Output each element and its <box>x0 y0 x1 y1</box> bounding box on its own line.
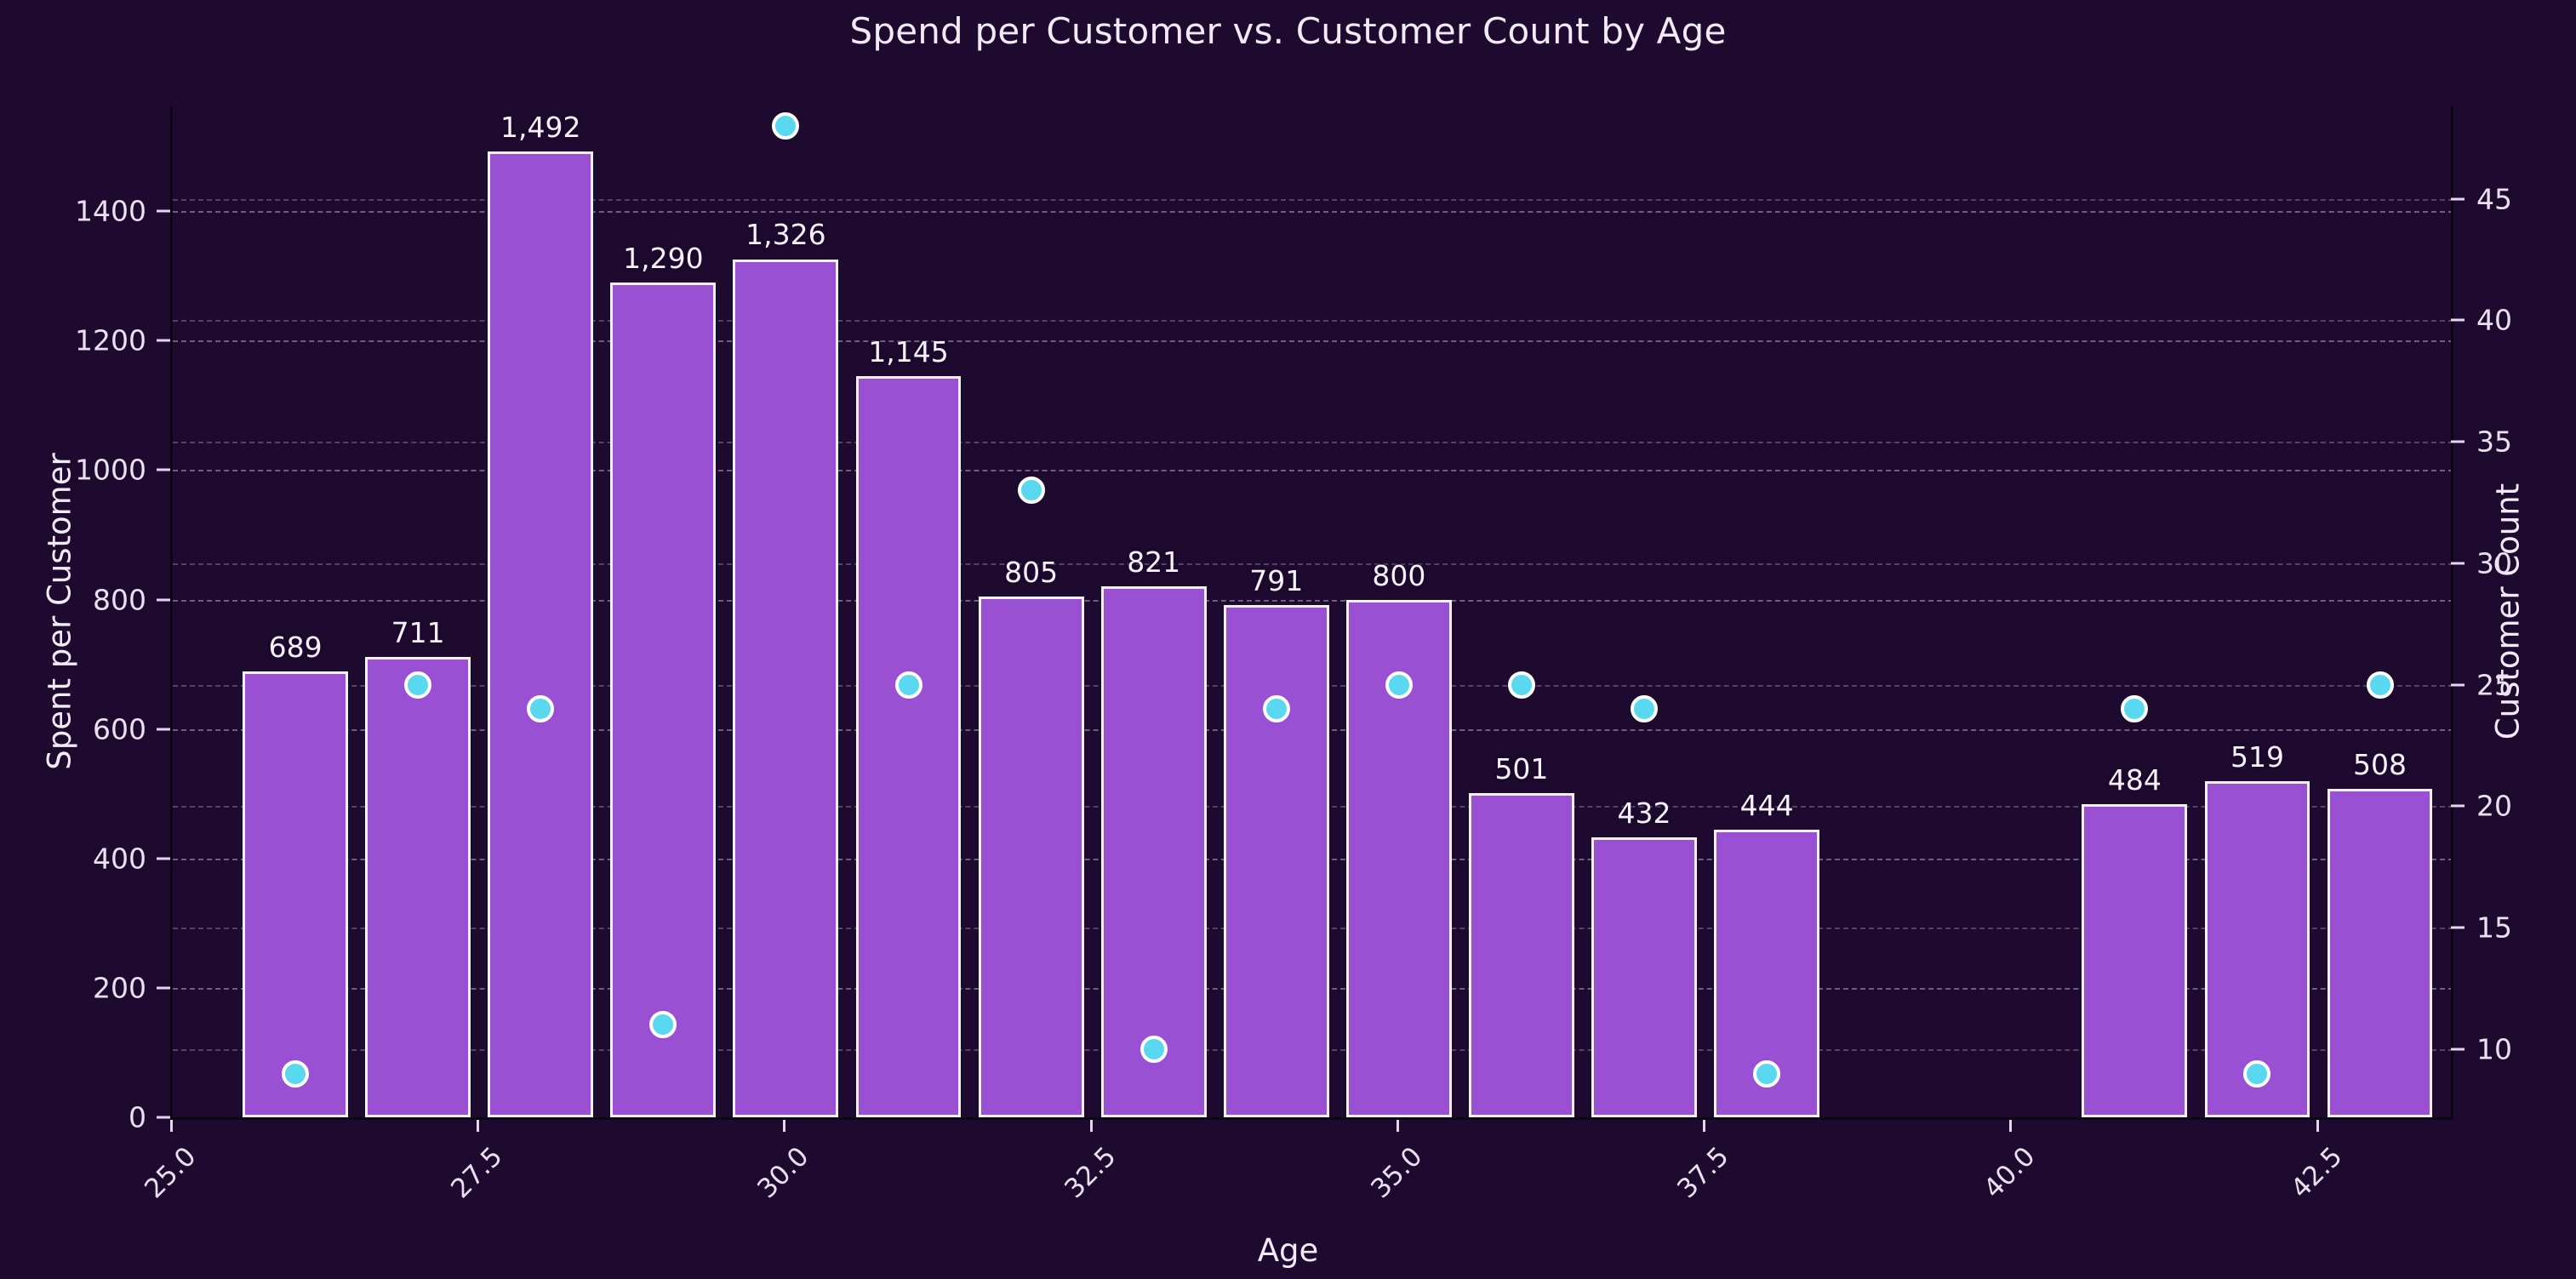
bar-value-label: 791 <box>1249 564 1303 597</box>
bar-value-label: 805 <box>1004 556 1058 589</box>
bar[interactable] <box>488 151 593 1117</box>
bar[interactable] <box>2328 789 2433 1117</box>
bar-value-label: 432 <box>1618 797 1671 830</box>
scatter-point[interactable] <box>2367 671 2394 699</box>
x-axis-tick-mark <box>783 1120 785 1132</box>
x-axis-tick-label: 35.0 <box>1365 1141 1428 1204</box>
scatter-point[interactable] <box>1385 671 1413 699</box>
bar[interactable] <box>243 671 348 1117</box>
scatter-point[interactable] <box>1508 671 1535 699</box>
y-axis-left-tick-mark <box>157 340 170 342</box>
y-axis-right-tick-label: 20 <box>2476 790 2512 823</box>
y-axis-right-tick-label: 35 <box>2476 425 2512 459</box>
y-axis-left-tick-mark <box>157 1116 170 1119</box>
x-axis-tick-label: 30.0 <box>752 1141 815 1204</box>
scatter-point[interactable] <box>282 1060 309 1088</box>
y-axis-left-tick-mark <box>157 986 170 989</box>
x-axis-tick-label: 42.5 <box>2285 1141 2348 1204</box>
y-axis-left-tick-label: 200 <box>93 971 146 1004</box>
bar[interactable] <box>1469 793 1574 1117</box>
scatter-point[interactable] <box>1753 1060 1780 1088</box>
y-axis-left-tick-label: 0 <box>129 1101 146 1134</box>
y-axis-right-tick-label: 15 <box>2476 911 2512 945</box>
bar-value-label: 800 <box>1372 559 1425 592</box>
y-axis-left-tick-mark <box>157 210 170 213</box>
scatter-point[interactable] <box>649 1011 677 1038</box>
bar-value-label: 1,492 <box>500 111 580 144</box>
x-axis-label: Age <box>0 1232 2576 1269</box>
x-axis-tick-mark <box>1703 1120 1705 1132</box>
bar[interactable] <box>2082 804 2187 1117</box>
scatter-point[interactable] <box>527 695 554 722</box>
y-axis-right-tick-label: 30 <box>2476 546 2512 580</box>
y-axis-left-tick-mark <box>157 598 170 601</box>
scatter-point[interactable] <box>2243 1060 2270 1088</box>
y-axis-left-tick-label: 1200 <box>75 324 146 357</box>
scatter-point[interactable] <box>1018 477 1045 504</box>
y-axis-left-tick-mark <box>157 857 170 859</box>
bar[interactable] <box>856 376 962 1117</box>
y-axis-right-tick-mark <box>2451 319 2465 322</box>
bar[interactable] <box>733 260 838 1118</box>
y-axis-right-tick-mark <box>2451 562 2465 564</box>
x-axis-tick-label: 25.0 <box>139 1141 202 1204</box>
bar-value-label: 484 <box>2108 763 2162 797</box>
bar-value-label: 501 <box>1494 752 1548 785</box>
scatter-point[interactable] <box>1631 695 1658 722</box>
bar-value-label: 689 <box>269 631 323 664</box>
x-axis-tick-mark <box>1397 1120 1399 1132</box>
bar-value-label: 1,326 <box>745 218 825 251</box>
bar-value-label: 821 <box>1127 545 1180 579</box>
y-axis-right-tick-mark <box>2451 197 2465 200</box>
y-axis-left-tick-mark <box>157 728 170 730</box>
bar-value-label: 519 <box>2230 740 2284 774</box>
x-axis-tick-mark <box>1090 1120 1093 1132</box>
y-axis-right-tick-mark <box>2451 1048 2465 1051</box>
right-spine <box>2451 106 2453 1120</box>
chart-figure: Spend per Customer vs. Customer Count by… <box>0 0 2576 1279</box>
y-axis-right-tick-label: 10 <box>2476 1033 2512 1066</box>
bar[interactable] <box>610 283 716 1117</box>
x-axis-tick-label: 37.5 <box>1671 1141 1734 1204</box>
y-axis-left-tick-mark <box>157 469 170 471</box>
chart-title: Spend per Customer vs. Customer Count by… <box>0 10 2576 52</box>
bar-value-label: 508 <box>2353 748 2407 781</box>
scatter-point[interactable] <box>2121 695 2148 722</box>
bar-value-label: 1,145 <box>868 335 948 368</box>
x-axis-tick-mark <box>2316 1120 2319 1132</box>
y-axis-right-tick-mark <box>2451 805 2465 808</box>
y-axis-left-tick-label: 1400 <box>75 195 146 228</box>
y-axis-left-tick-label: 400 <box>93 842 146 875</box>
bar-value-label: 1,290 <box>623 242 703 275</box>
x-axis-tick-mark <box>477 1120 479 1132</box>
bar-value-label: 711 <box>391 616 445 649</box>
x-axis-tick-mark <box>170 1120 173 1132</box>
y-axis-right-tick-label: 45 <box>2476 182 2512 215</box>
bar[interactable] <box>1591 837 1697 1117</box>
scatter-point[interactable] <box>895 671 922 699</box>
plot-area: 6897111,4921,2901,3261,14580582179180050… <box>170 106 2453 1120</box>
x-axis-tick-label: 40.0 <box>1978 1141 2041 1204</box>
plot-inner: 6897111,4921,2901,3261,14580582179180050… <box>173 106 2453 1117</box>
scatter-point[interactable] <box>1263 695 1290 722</box>
y-axis-left-tick-label: 800 <box>93 583 146 616</box>
x-axis-tick-mark <box>2009 1120 2012 1132</box>
bar[interactable] <box>365 657 471 1117</box>
scatter-point[interactable] <box>404 671 431 699</box>
y-axis-right-tick-mark <box>2451 683 2465 686</box>
scatter-point[interactable] <box>1140 1036 1168 1063</box>
bar-value-label: 444 <box>1740 789 1794 822</box>
y-axis-right-tick-mark <box>2451 927 2465 929</box>
y-axis-right-tick-label: 40 <box>2476 304 2512 337</box>
bar[interactable] <box>979 597 1084 1117</box>
x-axis-tick-label: 32.5 <box>1059 1141 1122 1204</box>
y-axis-left-label: Spent per Customer <box>42 442 78 782</box>
y-axis-right-tick-label: 25 <box>2476 668 2512 701</box>
scatter-point[interactable] <box>772 112 799 140</box>
bar[interactable] <box>1224 605 1329 1117</box>
y-axis-right-tick-mark <box>2451 441 2465 443</box>
y-axis-left-tick-label: 1000 <box>75 454 146 487</box>
x-axis-tick-label: 27.5 <box>445 1141 508 1204</box>
y-axis-right-label: Customer Count <box>2490 442 2527 782</box>
y-axis-left-tick-label: 600 <box>93 712 146 745</box>
